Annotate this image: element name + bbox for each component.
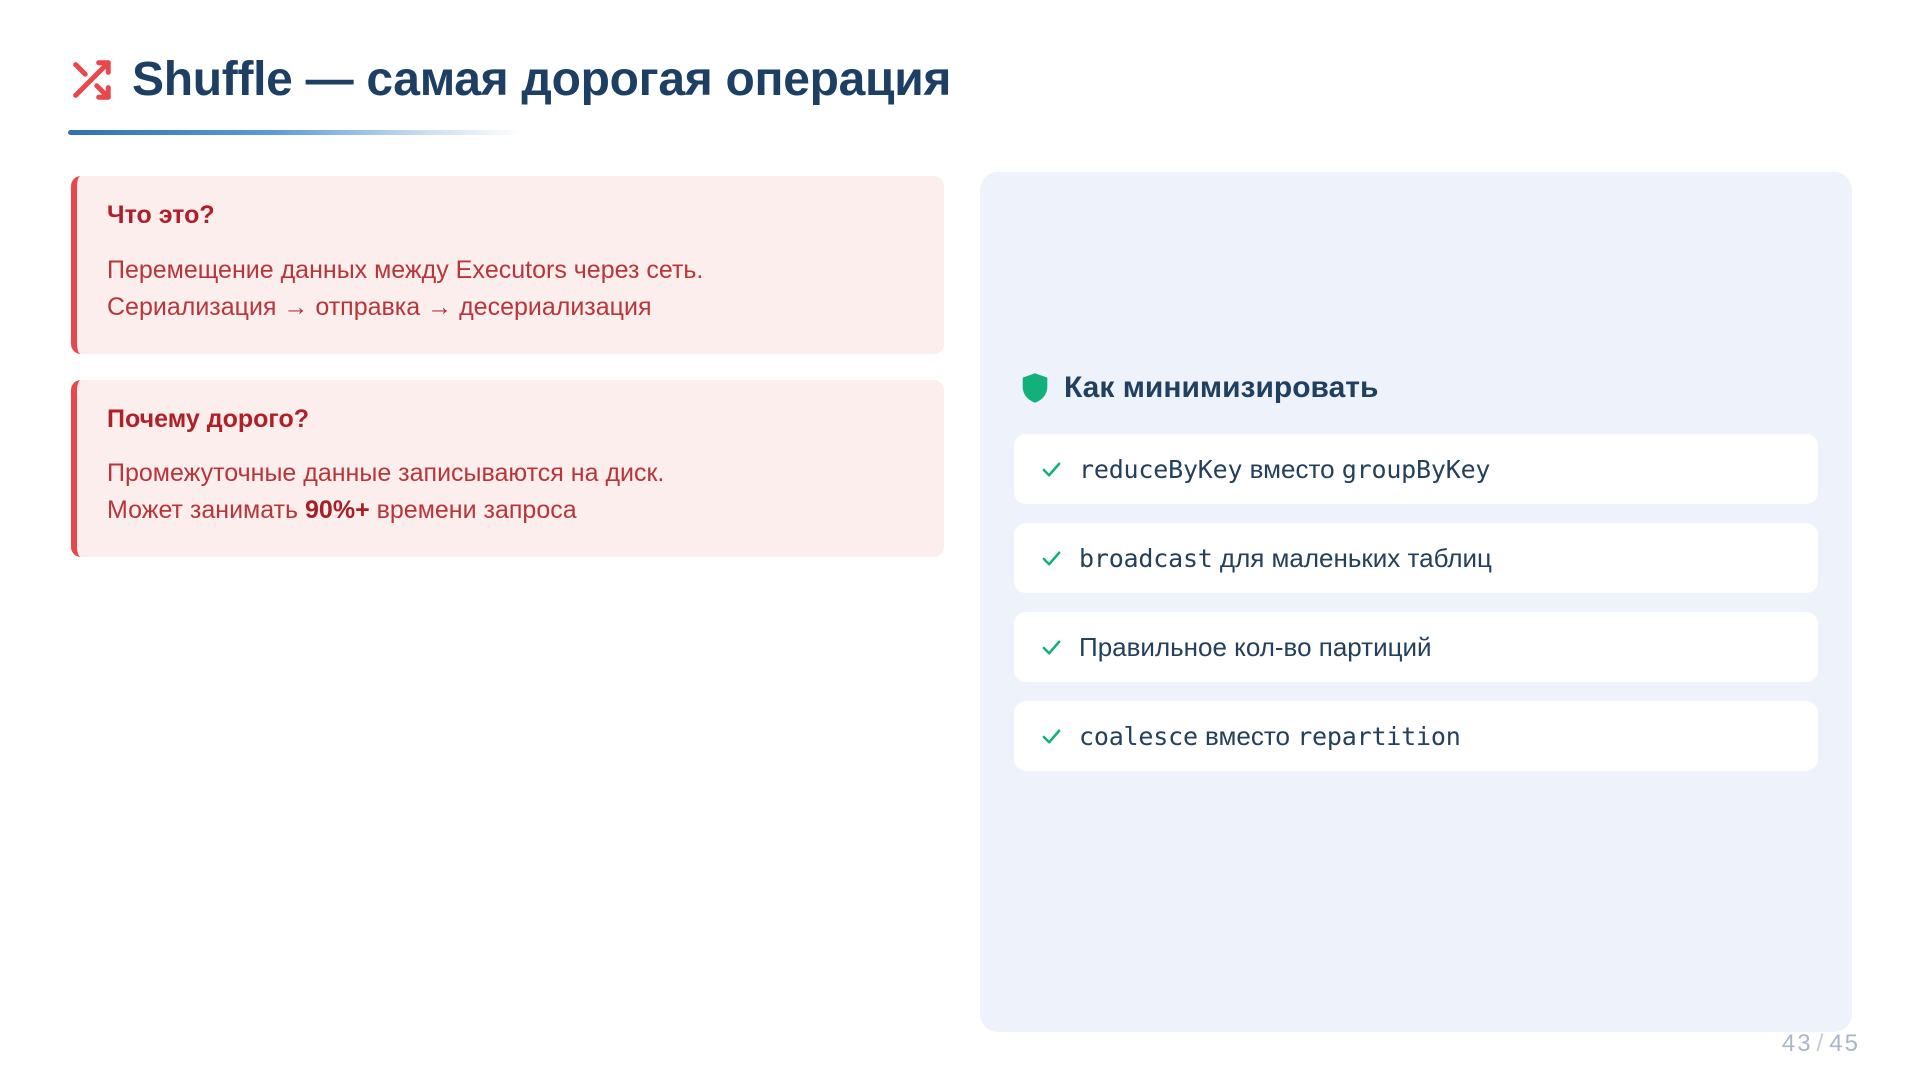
check-icon (1040, 725, 1063, 748)
card-heading: Почему дорого? (107, 406, 914, 434)
slide-root: Shuffle — самая дорогая операция Что это… (0, 0, 1920, 1080)
list-item[interactable]: coalesce вместо repartition (1014, 701, 1818, 771)
list-item[interactable]: Правильное кол-во партиций (1014, 612, 1818, 682)
list-item[interactable]: broadcast для маленьких таблиц (1014, 523, 1818, 593)
plain-token: вместо (1242, 454, 1341, 484)
shield-icon (1020, 372, 1050, 404)
shuffle-icon (68, 57, 114, 103)
list-item-label: Правильное кол-во партиций (1079, 634, 1432, 660)
list-item-label: reduceByKey вместо groupByKey (1079, 456, 1490, 482)
current-page-number: 43 (1782, 1030, 1813, 1057)
check-icon (1040, 636, 1063, 659)
page-separator: / (1813, 1030, 1830, 1057)
title-underline-rule (68, 130, 523, 135)
page-title: Shuffle — самая дорогая операция (132, 55, 951, 105)
code-token: groupByKey (1342, 455, 1491, 484)
plain-token: для маленьких таблиц (1213, 543, 1492, 573)
card-line: Промежуточные данные записываются на дис… (107, 455, 914, 492)
code-token: reduceByKey (1079, 455, 1242, 484)
card-line: Сериализация → отправка → десериализация (107, 289, 914, 326)
left-column: Что это? Перемещение данных между Execut… (71, 176, 944, 583)
list-item-label: broadcast для маленьких таблиц (1079, 545, 1492, 571)
title-row: Shuffle — самая дорогая операция (68, 46, 1852, 114)
page-counter: 43/45 (1782, 1030, 1860, 1058)
check-icon (1040, 547, 1063, 570)
code-token: repartition (1297, 722, 1460, 751)
list-item[interactable]: reduceByKey вместо groupByKey (1014, 434, 1818, 504)
plain-token: вместо (1198, 721, 1297, 751)
line-suffix: времени запроса (370, 496, 577, 524)
line-prefix: Может занимать (107, 496, 305, 524)
list-item-label: coalesce вместо repartition (1079, 723, 1461, 749)
code-token: broadcast (1079, 544, 1213, 573)
code-token: coalesce (1079, 722, 1198, 751)
minimize-panel: Как минимизировать reduceByKey вместо gr… (980, 172, 1852, 1032)
tips-list: reduceByKey вместо groupByKey broadcast … (1014, 434, 1818, 790)
card-line: Перемещение данных между Executors через… (107, 252, 914, 289)
line-strong: 90%+ (305, 496, 370, 524)
slide-header: Shuffle — самая дорогая операция (68, 46, 1852, 135)
info-card-what-is-it: Что это? Перемещение данных между Execut… (71, 176, 944, 354)
panel-title: Как минимизировать (1064, 373, 1378, 403)
card-heading: Что это? (107, 202, 914, 230)
check-icon (1040, 458, 1063, 481)
panel-heading-row: Как минимизировать (1020, 372, 1378, 404)
card-line-highlight: Может занимать 90%+ времени запроса (107, 492, 914, 529)
info-card-why-expensive: Почему дорого? Промежуточные данные запи… (71, 380, 944, 558)
total-page-number: 45 (1829, 1030, 1860, 1057)
plain-token: Правильное кол-во партиций (1079, 632, 1432, 662)
